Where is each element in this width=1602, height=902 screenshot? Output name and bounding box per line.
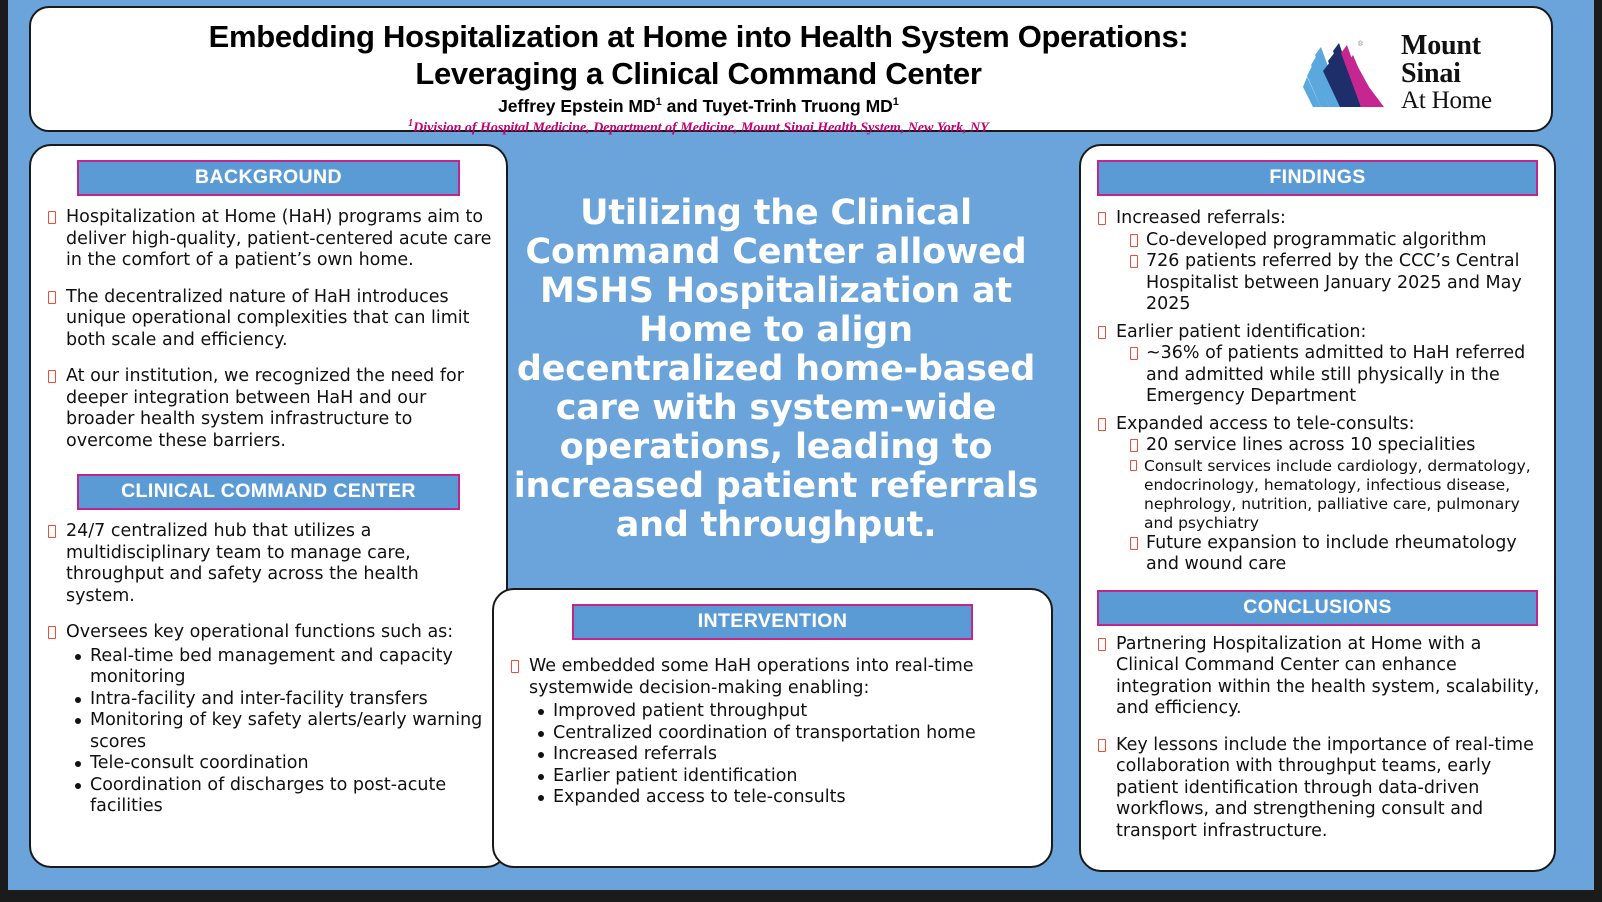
list-item: Monitoring of key safety alerts/early wa…	[66, 710, 492, 753]
conclusions-bullet-list: Partnering Hospitalization at Home with …	[1095, 634, 1540, 843]
list-item: Key lessons include the importance of re…	[1095, 735, 1540, 843]
section-header-background: BACKGROUND	[77, 160, 460, 196]
findings-group-lead: Expanded access to tele-consults:	[1116, 414, 1414, 434]
background-bullet-list: Hospitalization at Home (HaH) programs a…	[45, 207, 492, 452]
poster-title-card: Embedding Hospitalization at Home into H…	[29, 6, 1553, 132]
page-title-line-1: Embedding Hospitalization at Home into H…	[71, 18, 1326, 55]
list-item: Earlier patient identification	[529, 766, 1037, 788]
list-item: Centralized coordination of transportati…	[529, 723, 1037, 745]
findings-group-lead: Increased referrals:	[1116, 208, 1286, 228]
title-block: Embedding Hospitalization at Home into H…	[71, 18, 1326, 137]
logo-word-mount: Mount	[1401, 32, 1492, 60]
findings-body: Increased referrals: Co-developed progra…	[1081, 208, 1554, 576]
section-header-findings: FINDINGS	[1097, 160, 1538, 196]
logo-wordmark: Mount Sinai At Home	[1401, 32, 1492, 114]
right-column-card: FINDINGS Increased referrals: Co-develop…	[1079, 144, 1556, 872]
list-item: Co-developed programmatic algorithm	[1116, 230, 1540, 252]
intervention-body: We embedded some HaH operations into rea…	[494, 656, 1051, 809]
list-item: Increased referrals: Co-developed progra…	[1095, 208, 1540, 316]
affiliation-text: Division of Hospital Medicine, Departmen…	[413, 121, 989, 136]
center-headline: Utilizing the Clinical Command Center al…	[500, 194, 1052, 545]
ccc-bullet-list: 24/7 centralized hub that utilizes a mul…	[45, 521, 492, 818]
page-title-line-2: Leveraging a Clinical Command Center	[71, 55, 1326, 92]
list-item: Improved patient throughput	[529, 701, 1037, 723]
list-item: Expanded access to tele-consults: 20 ser…	[1095, 414, 1540, 576]
list-item: The decentralized nature of HaH introduc…	[45, 287, 492, 352]
author-list: Jeffrey Epstein MD1 and Tuyet-Trinh Truo…	[71, 96, 1326, 117]
list-item: Future expansion to include rheumatology…	[1116, 533, 1540, 576]
list-item: ~36% of patients admitted to HaH referre…	[1116, 343, 1540, 408]
ccc-sub-list: Real-time bed management and capacity mo…	[66, 646, 492, 818]
list-item: 20 service lines across 10 specialities	[1116, 435, 1540, 457]
list-item: Intra-facility and inter-facility transf…	[66, 689, 492, 711]
list-item: At our institution, we recognized the ne…	[45, 366, 492, 452]
section-header-conclusions: CONCLUSIONS	[1097, 590, 1538, 626]
section-header-clinical-command-center: CLINICAL COMMAND CENTER	[77, 474, 460, 510]
list-item: 726 patients referred by the CCC’s Centr…	[1116, 251, 1540, 316]
intervention-bullet-list: We embedded some HaH operations into rea…	[508, 656, 1037, 809]
list-item: 24/7 centralized hub that utilizes a mul…	[45, 521, 492, 607]
list-item: Hospitalization at Home (HaH) programs a…	[45, 207, 492, 272]
list-item: Oversees key operational functions such …	[45, 622, 492, 818]
section-header-intervention: INTERVENTION	[572, 604, 973, 640]
list-item: Coordination of discharges to post-acute…	[66, 775, 492, 818]
affiliation-line: 1Division of Hospital Medicine, Departme…	[71, 118, 1326, 137]
left-column-card: BACKGROUND Hospitalization at Home (HaH)…	[29, 144, 508, 868]
author-two-sup: 1	[893, 96, 899, 108]
ccc-bullet2-text: Oversees key operational functions such …	[66, 622, 453, 642]
mount-sinai-mountain-icon: ®	[1295, 33, 1391, 113]
list-item: Expanded access to tele-consults	[529, 787, 1037, 809]
author-conjunction: and Tuyet-Trinh Truong MD	[662, 96, 893, 116]
list-item: We embedded some HaH operations into rea…	[508, 656, 1037, 809]
findings-group-lead: Earlier patient identification:	[1116, 322, 1366, 342]
clinical-command-center-body: 24/7 centralized hub that utilizes a mul…	[31, 521, 506, 818]
background-body: Hospitalization at Home (HaH) programs a…	[31, 207, 506, 452]
mount-sinai-at-home-logo: ® Mount Sinai At Home	[1295, 30, 1527, 116]
logo-word-at-home: At Home	[1401, 89, 1492, 114]
list-item: Earlier patient identification: ~36% of …	[1095, 322, 1540, 408]
list-item: Increased referrals	[529, 744, 1037, 766]
poster-root: Embedding Hospitalization at Home into H…	[0, 0, 1602, 902]
findings-bullet-list: Increased referrals: Co-developed progra…	[1095, 208, 1540, 576]
svg-text:®: ®	[1357, 40, 1364, 48]
intervention-sub-list: Improved patient throughput Centralized …	[529, 701, 1037, 809]
intervention-card: INTERVENTION We embedded some HaH operat…	[492, 588, 1053, 868]
list-item: Tele-consult coordination	[66, 753, 492, 775]
conclusions-body: Partnering Hospitalization at Home with …	[1081, 634, 1554, 843]
intervention-lead-text: We embedded some HaH operations into rea…	[529, 656, 974, 698]
findings-sub-list: 20 service lines across 10 specialities …	[1116, 435, 1540, 576]
list-item: Real-time bed management and capacity mo…	[66, 646, 492, 689]
findings-sub-list: ~36% of patients admitted to HaH referre…	[1116, 343, 1540, 408]
author-one: Jeffrey Epstein MD	[498, 96, 656, 116]
logo-word-sinai: Sinai	[1401, 60, 1492, 88]
list-item: Consult services include cardiology, der…	[1116, 457, 1540, 533]
list-item: Partnering Hospitalization at Home with …	[1095, 634, 1540, 720]
findings-sub-list: Co-developed programmatic algorithm 726 …	[1116, 230, 1540, 316]
